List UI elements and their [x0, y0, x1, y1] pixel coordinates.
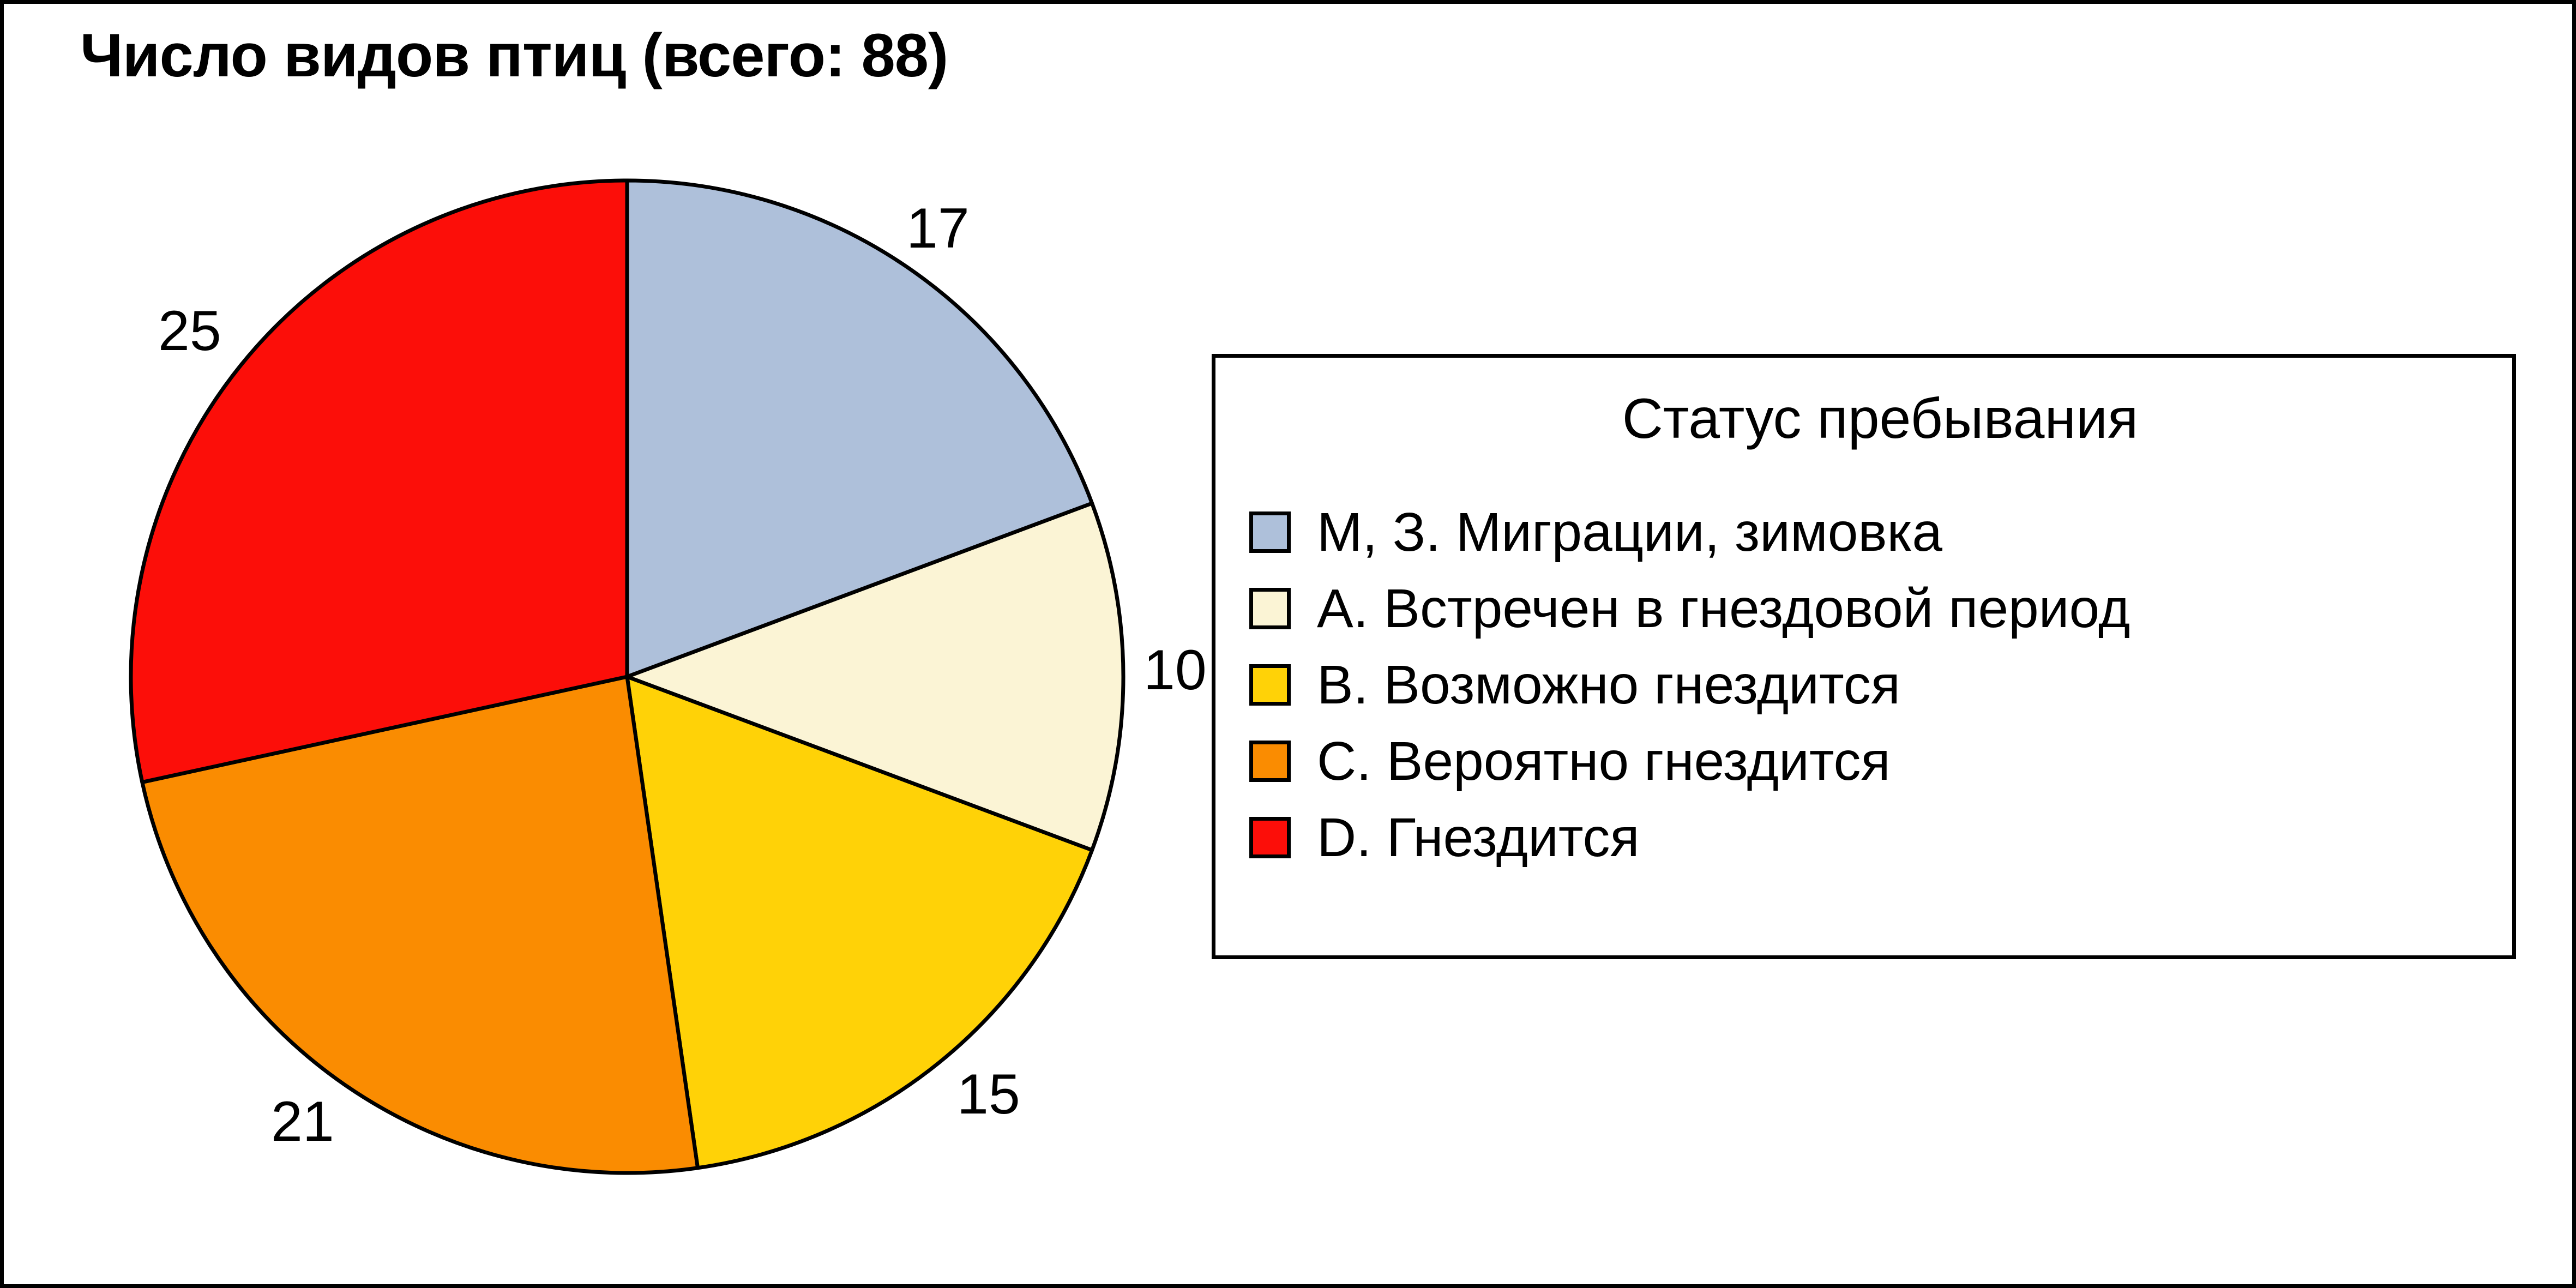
chart-page: Число видов птиц (всего: 88) 17 10 15 21… [0, 0, 2576, 1288]
legend-title: Статус пребывания [1215, 390, 2512, 447]
data-label-17: 17 [906, 200, 970, 257]
pie-slice[interactable] [131, 180, 627, 782]
legend-item-label: A. Встречен в гнездовой период [1317, 581, 2130, 636]
pie-slices-group [131, 180, 1123, 1173]
data-label-21: 21 [271, 1093, 334, 1150]
legend-item[interactable]: C. Вероятно гнездится [1249, 723, 2503, 799]
legend: Статус пребывания M, З. Миграции, зимовк… [1212, 354, 2516, 959]
legend-color-swatch [1249, 664, 1291, 706]
legend-color-swatch [1249, 741, 1291, 782]
legend-item[interactable]: D. Гнездится [1249, 799, 2503, 876]
data-label-25: 25 [158, 303, 221, 359]
data-label-10: 10 [1143, 642, 1207, 699]
legend-color-swatch [1249, 817, 1291, 858]
legend-item[interactable]: B. Возможно гнездится [1249, 647, 2503, 723]
legend-items-list: M, З. Миграции, зимовкаA. Встречен в гне… [1249, 494, 2503, 876]
legend-item-label: C. Вероятно гнездится [1317, 734, 1891, 789]
legend-item[interactable]: M, З. Миграции, зимовка [1249, 494, 2503, 570]
legend-item[interactable]: A. Встречен в гнездовой период [1249, 570, 2503, 647]
legend-item-label: B. Возможно гнездится [1317, 658, 1900, 712]
legend-item-label: M, З. Миграции, зимовка [1317, 505, 1942, 559]
data-label-15: 15 [957, 1066, 1020, 1123]
legend-color-swatch [1249, 511, 1291, 553]
legend-color-swatch [1249, 588, 1291, 629]
legend-item-label: D. Гнездится [1317, 810, 1640, 865]
